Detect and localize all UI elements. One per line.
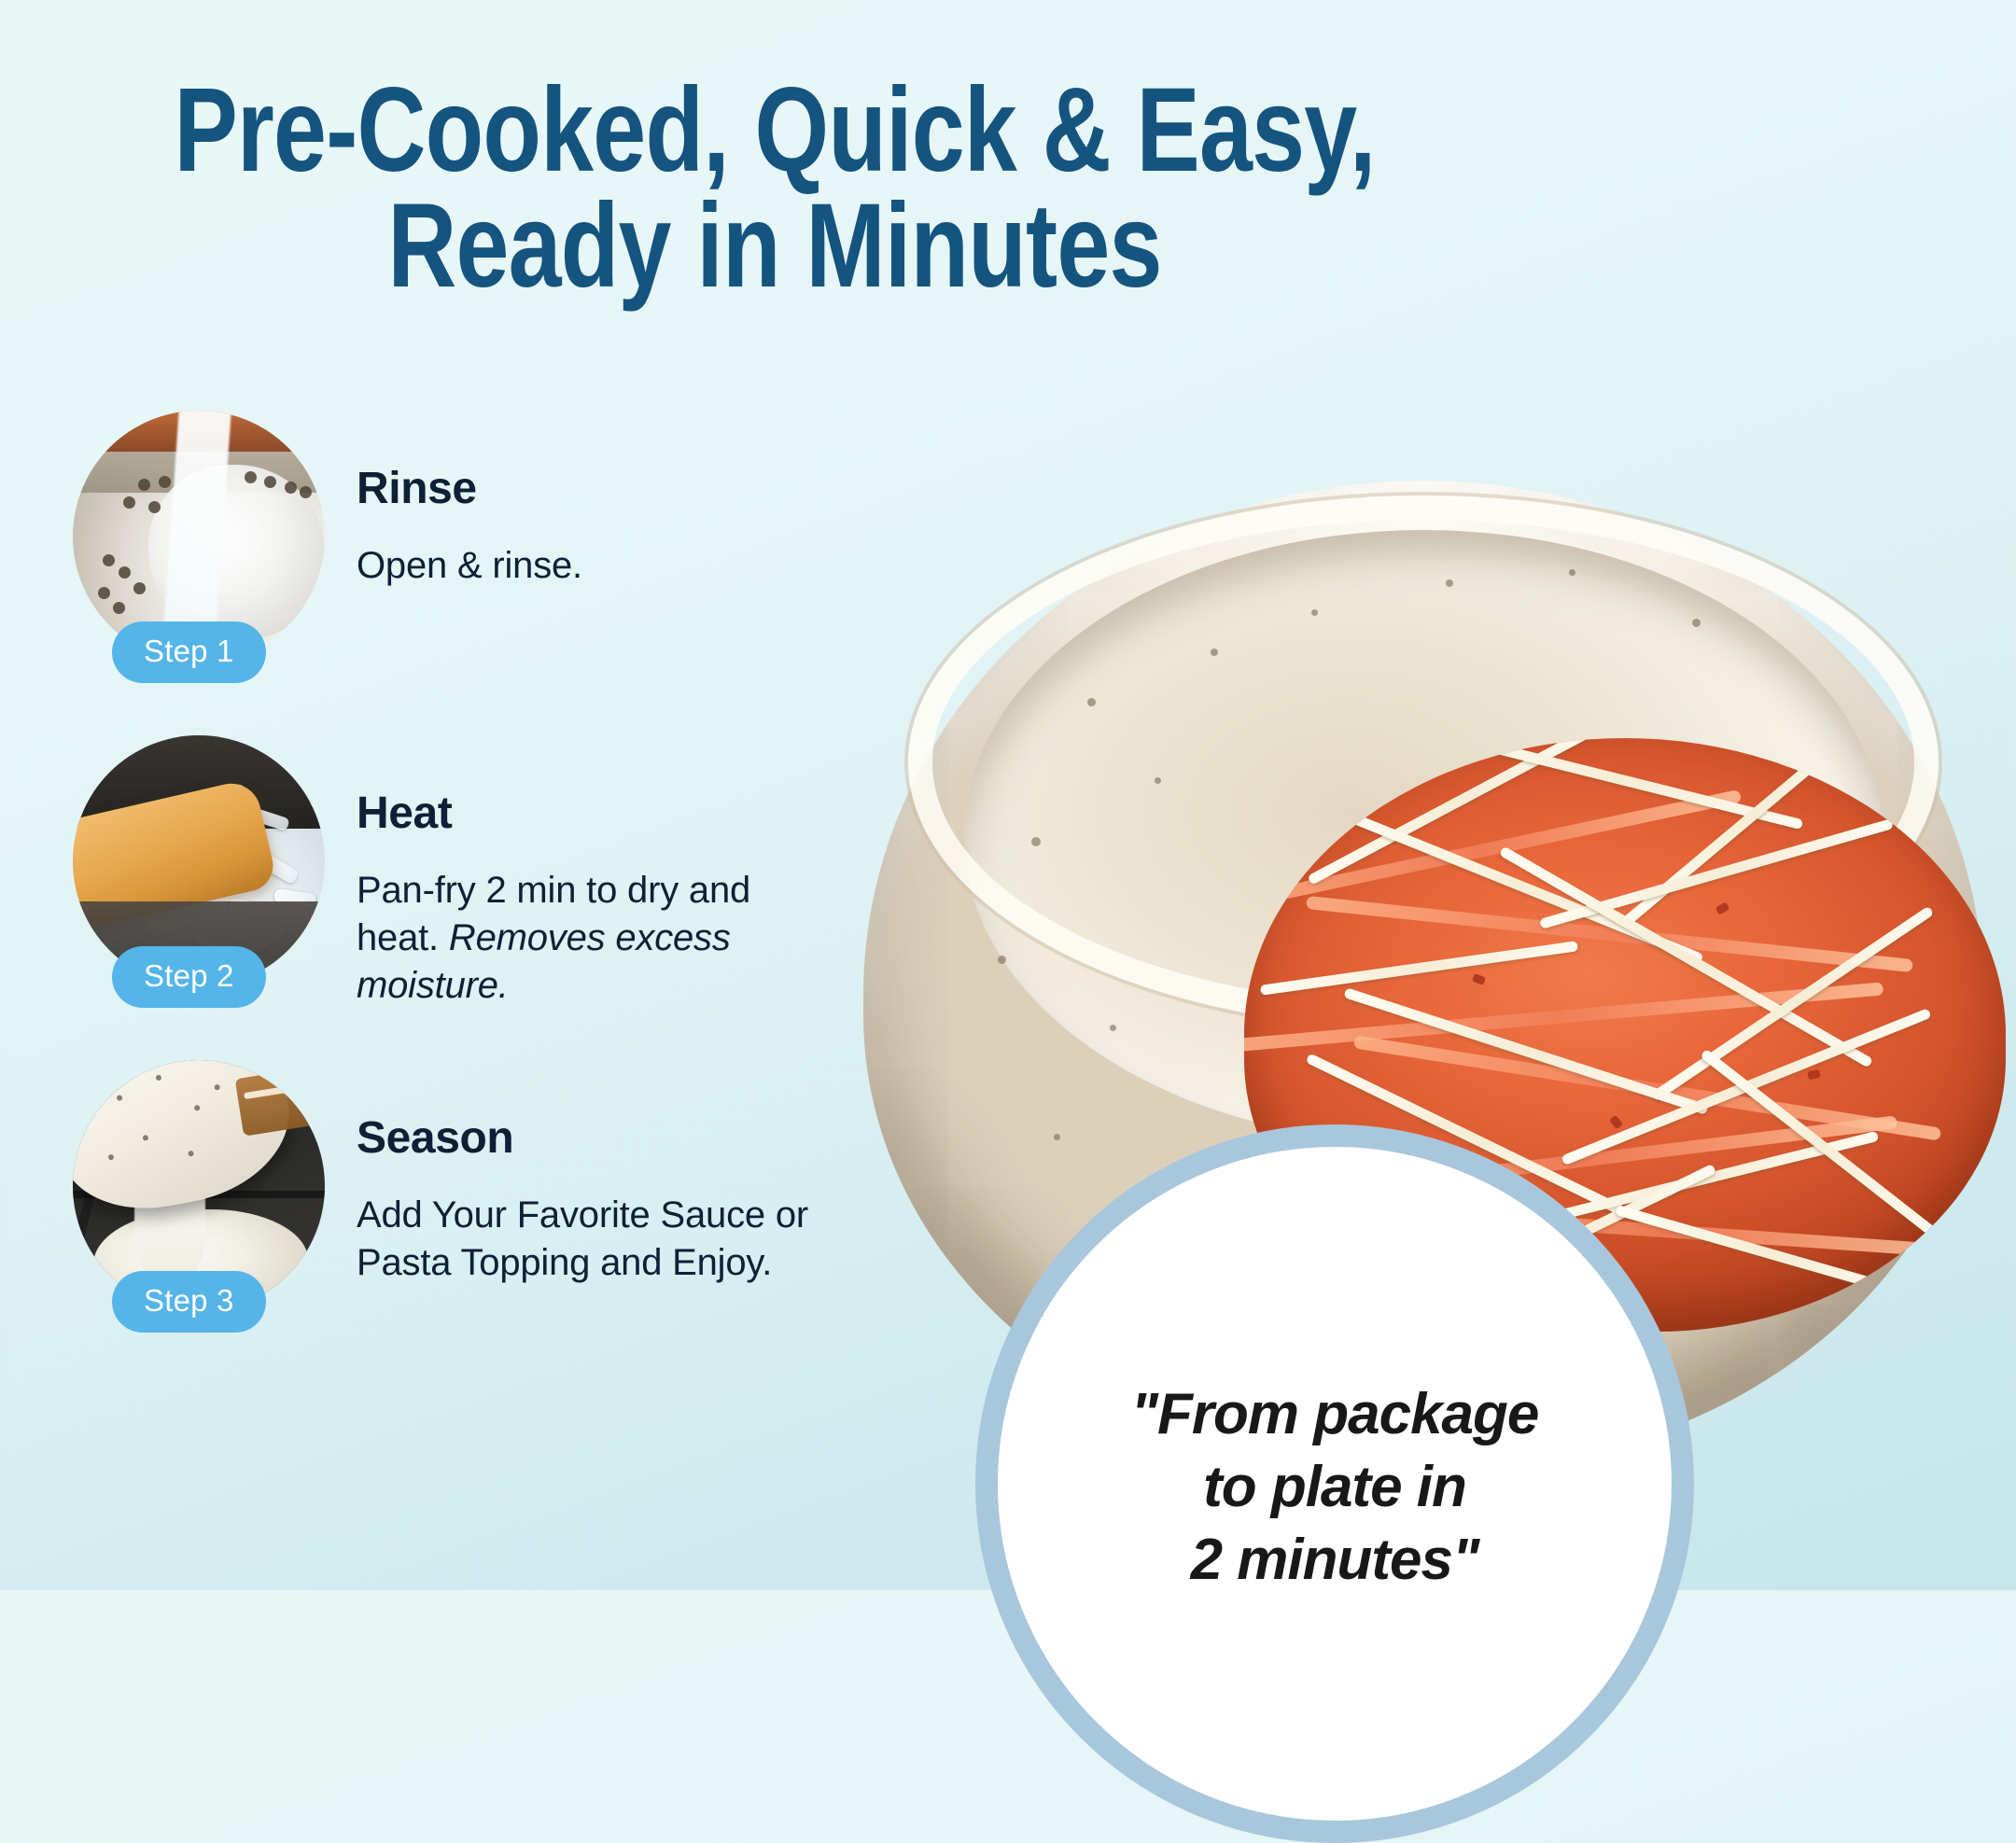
step-3-desc-main: Add Your Favorite Sauce or Pasta Topping… — [357, 1194, 808, 1283]
step-1-badge: Step 1 — [112, 621, 266, 683]
quote-callout: "From package to plate in 2 minutes" — [975, 1124, 1694, 1843]
step-2-badge: Step 2 — [112, 946, 266, 1008]
jar-label — [235, 1068, 316, 1136]
quote-callout-text: "From package to plate in 2 minutes" — [1131, 1378, 1539, 1597]
step-2-text: Heat Pan-fry 2 min to dry and heat. Remo… — [357, 735, 842, 1011]
steps-list: Step 1 Rinse Open & rinse. — [0, 411, 933, 1385]
step-3-badge: Step 3 — [112, 1271, 266, 1333]
step-2-thumb-wrap: Step 2 — [73, 735, 325, 987]
step-1-desc: Open & rinse. — [357, 542, 582, 590]
step-1-desc-main: Open & rinse. — [357, 545, 582, 586]
step-item: Step 2 Heat Pan-fry 2 min to dry and hea… — [0, 735, 933, 1015]
step-3-desc: Add Your Favorite Sauce or Pasta Topping… — [357, 1192, 842, 1287]
headline-container: Pre-Cooked, Quick & Easy, Ready in Minut… — [0, 73, 1549, 304]
step-1-title: Rinse — [357, 463, 582, 514]
page-title: Pre-Cooked, Quick & Easy, Ready in Minut… — [155, 73, 1394, 304]
step-2-title: Heat — [357, 788, 842, 839]
step-1-text: Rinse Open & rinse. — [357, 411, 582, 590]
step-item: Step 3 Season Add Your Favorite Sauce or… — [0, 1060, 933, 1340]
step-3-thumb-wrap: Step 3 — [73, 1060, 325, 1312]
step-2-desc: Pan-fry 2 min to dry and heat. Removes e… — [357, 867, 842, 1011]
step-3-title: Season — [357, 1112, 842, 1164]
step-1-thumb-wrap: Step 1 — [73, 411, 325, 663]
step-item: Step 1 Rinse Open & rinse. — [0, 411, 933, 691]
step-3-text: Season Add Your Favorite Sauce or Pasta … — [357, 1060, 842, 1287]
